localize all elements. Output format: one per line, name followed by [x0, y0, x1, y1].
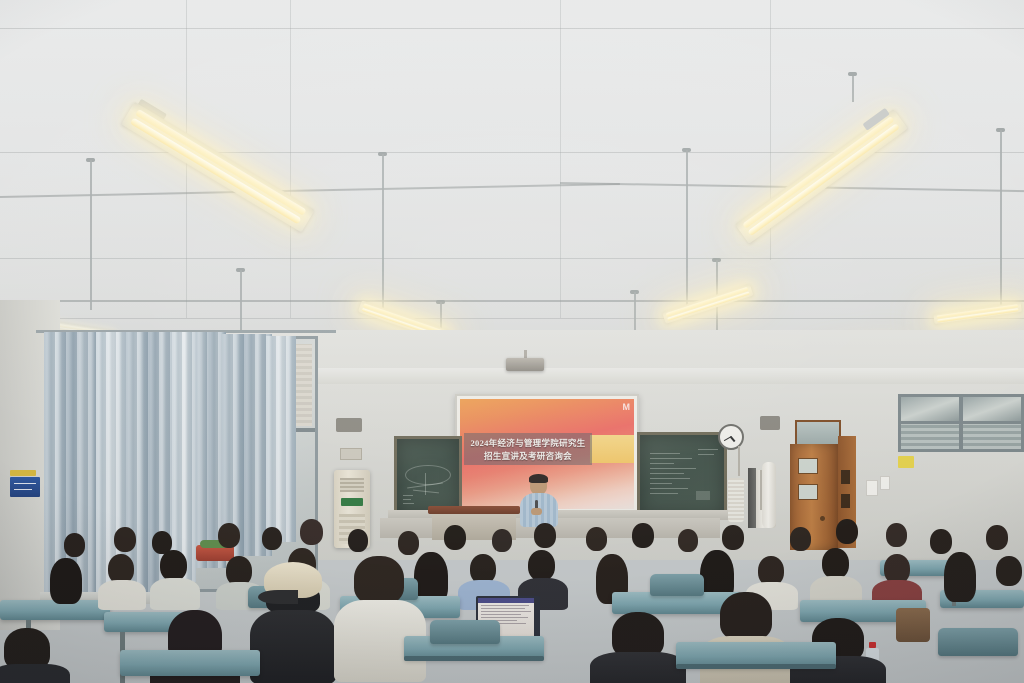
- right-window: [898, 394, 1024, 452]
- presenter-hair: [529, 474, 548, 483]
- door-panel: [798, 458, 818, 474]
- suspension-rod: [90, 160, 92, 310]
- exit-direction-sign: [10, 477, 40, 497]
- chair-back: [430, 620, 500, 644]
- desk-edge: [676, 664, 836, 669]
- slide-title-line-1: 2024年经济与管理学院研究生: [470, 437, 585, 449]
- ceiling-projector: [506, 358, 544, 371]
- chair-back: [650, 574, 704, 596]
- student: [590, 612, 686, 683]
- green-chalkboard-left: [394, 436, 462, 516]
- student: [700, 592, 792, 683]
- backpack-on-floor: [896, 608, 930, 642]
- desk-edge: [404, 656, 544, 661]
- student-hair: [354, 556, 404, 604]
- laptop-titlebar: [478, 598, 534, 603]
- door-vent: [841, 470, 850, 484]
- window-louvers: [901, 424, 959, 449]
- cap-brim: [258, 590, 298, 604]
- chair-back: [938, 628, 1018, 656]
- student-torso: [590, 652, 686, 683]
- student-with-cap: [256, 562, 332, 682]
- wall-notice: [866, 480, 878, 496]
- ceiling-seam: [290, 0, 291, 318]
- slide-title-line-2: 招生宣讲及考研咨询会: [484, 450, 572, 462]
- student: [0, 628, 70, 683]
- ceiling-seam: [0, 318, 1024, 319]
- wall-clock: [718, 424, 744, 450]
- suspension-rod: [382, 154, 384, 316]
- suspension-rod: [852, 76, 854, 102]
- student-hair: [720, 592, 772, 640]
- student: [338, 556, 422, 682]
- window-louvers: [963, 424, 1021, 449]
- wall-speaker: [760, 416, 780, 430]
- notice-sign: [898, 456, 914, 468]
- student-torso: [0, 664, 70, 683]
- ceiling-seam: [0, 28, 1024, 29]
- suspension-rod: [1000, 130, 1002, 310]
- wall-speaker: [336, 418, 362, 432]
- wall-notice: [880, 476, 890, 490]
- sign-header: [10, 470, 36, 476]
- wall-control-box: [340, 448, 362, 460]
- slide-title-band: 2024年经济与管理学院研究生 招生宣讲及考研咨询会: [464, 433, 592, 465]
- classroom-photo: M 2024年经济与管理学院研究生 招生宣讲及考研咨询会: [0, 0, 1024, 683]
- rollup-cord: [738, 446, 740, 476]
- slide-logo: M: [623, 402, 631, 412]
- ceiling-seam: [0, 258, 1024, 259]
- student-torso: [250, 610, 336, 683]
- suspension-rod: [686, 150, 688, 310]
- door-panel: [798, 484, 818, 500]
- ceiling-seam: [560, 0, 561, 318]
- student-desk: [120, 650, 260, 676]
- slide-accent-block: [590, 435, 634, 463]
- ceiling-conduit: [0, 300, 1024, 302]
